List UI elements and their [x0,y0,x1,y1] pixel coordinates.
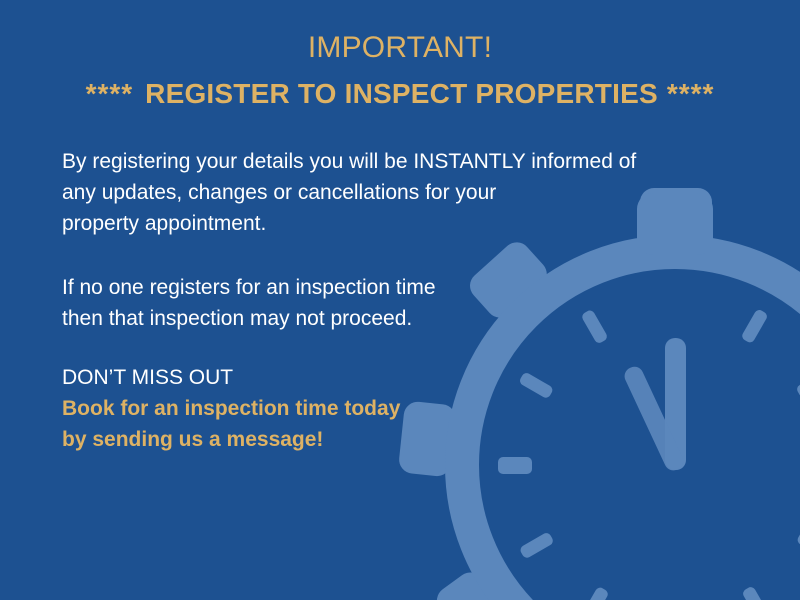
cta-dont-miss-out: DON’T MISS OUT [62,362,742,393]
call-to-action-block: DON’T MISS OUT Book for an inspection ti… [62,362,742,455]
slide-content: IMPORTANT! ****REGISTER TO INSPECT PROPE… [0,0,800,600]
paragraph-2-line-1: If no one registers for an inspection ti… [62,272,742,303]
paragraph-1-line-2: any updates, changes or cancellations fo… [62,177,742,208]
slide-canvas: IMPORTANT! ****REGISTER TO INSPECT PROPE… [0,0,800,600]
paragraph-1-line-1: By registering your details you will be … [62,146,742,177]
paragraph-no-registrations: If no one registers for an inspection ti… [62,272,742,334]
cta-book-inspection: Book for an inspection time today [62,393,742,424]
paragraph-1-line-3: property appointment. [62,208,742,239]
paragraph-registering: By registering your details you will be … [62,146,742,239]
heading-register-text: REGISTER TO INSPECT PROPERTIES [145,78,658,109]
cta-send-message: by sending us a message! [62,424,742,455]
heading-block: IMPORTANT! ****REGISTER TO INSPECT PROPE… [0,28,800,114]
heading-important: IMPORTANT! [0,28,800,68]
heading-register: ****REGISTER TO INSPECT PROPERTIES**** [0,74,800,114]
stars-leading: **** [86,78,134,109]
paragraph-2-line-2: then that inspection may not proceed. [62,303,742,334]
stars-trailing: **** [667,78,715,109]
